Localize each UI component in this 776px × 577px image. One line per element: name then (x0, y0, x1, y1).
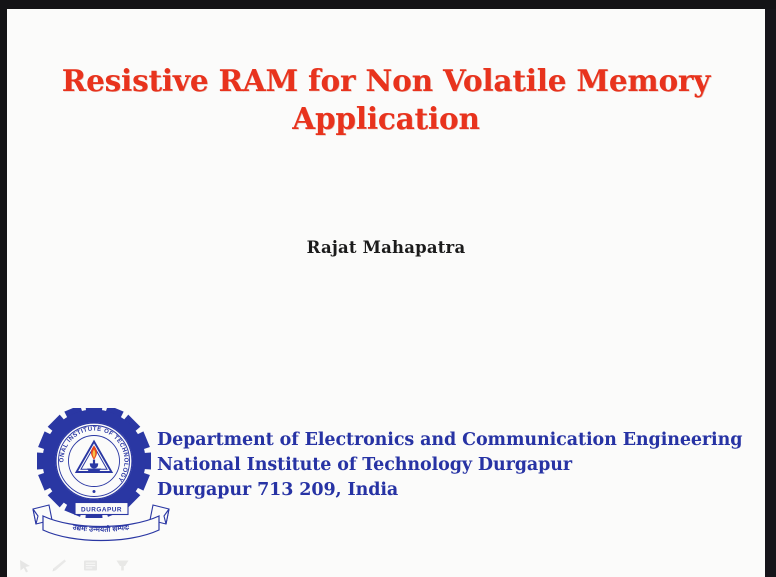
presentation-viewport: Resistive RAM for Non Volatile Memory Ap… (0, 0, 776, 577)
svg-text:उद्यमः उन्मयतो सम्पदः: उद्यमः उन्मयतो सम्पदः (71, 523, 130, 534)
affiliation-address: Durgapur 713 209, India (157, 478, 757, 503)
letterbox-left (0, 0, 7, 577)
slide-title: Resistive RAM for Non Volatile Memory Ap… (7, 62, 765, 138)
menu-icon[interactable] (81, 558, 100, 573)
highlighter-icon[interactable] (113, 558, 132, 573)
affiliation-block: Department of Electronics and Communicat… (157, 428, 757, 503)
slide-canvas[interactable]: Resistive RAM for Non Volatile Memory Ap… (7, 9, 765, 577)
pointer-icon[interactable] (17, 558, 36, 573)
svg-text:DURGAPUR: DURGAPUR (81, 506, 122, 513)
title-line-2: Application (7, 100, 765, 138)
affiliation-institute: National Institute of Technology Durgapu… (157, 453, 757, 478)
pen-icon[interactable] (49, 558, 68, 573)
slideshow-toolbar[interactable] (17, 558, 132, 573)
letterbox-right (765, 0, 776, 577)
letterbox-top (0, 0, 776, 9)
nit-durgapur-logo-icon: NATIONAL INSTITUTE OF TECHNOLOGY (28, 408, 174, 548)
author-name: Rajat Mahapatra (7, 238, 765, 257)
title-line-1: Resistive RAM for Non Volatile Memory (7, 62, 765, 100)
affiliation-department: Department of Electronics and Communicat… (157, 428, 757, 453)
